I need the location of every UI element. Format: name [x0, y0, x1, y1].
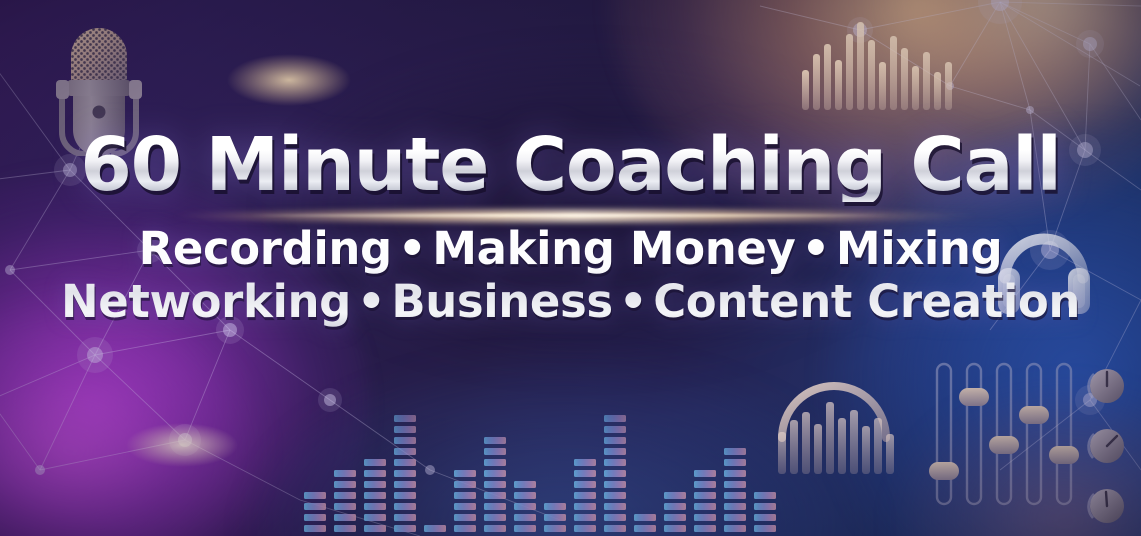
- subtitle-item: Networking: [61, 275, 351, 328]
- subtitle-item: Recording: [139, 222, 392, 275]
- page-title: 60 Minute Coaching Call: [80, 128, 1060, 202]
- subtitle-item: Content Creation: [653, 275, 1080, 328]
- banner-subtitle: Recording•Making Money•Mixing Networking…: [61, 222, 1080, 328]
- subtitle-item: Business: [391, 275, 612, 328]
- subtitle-item: Making Money: [432, 222, 795, 275]
- subtitle-line-2: Networking•Business•Content Creation: [61, 275, 1080, 328]
- subtitle-item: Mixing: [836, 222, 1003, 275]
- subtitle-separator: •: [392, 222, 432, 275]
- banner-content: 60 Minute Coaching Call Recording•Making…: [0, 0, 1141, 536]
- subtitle-line-1: Recording•Making Money•Mixing: [61, 222, 1080, 275]
- subtitle-separator: •: [351, 275, 391, 328]
- subtitle-separator: •: [795, 222, 835, 275]
- coaching-call-banner: 60 Minute Coaching Call Recording•Making…: [0, 0, 1141, 536]
- subtitle-separator: •: [613, 275, 653, 328]
